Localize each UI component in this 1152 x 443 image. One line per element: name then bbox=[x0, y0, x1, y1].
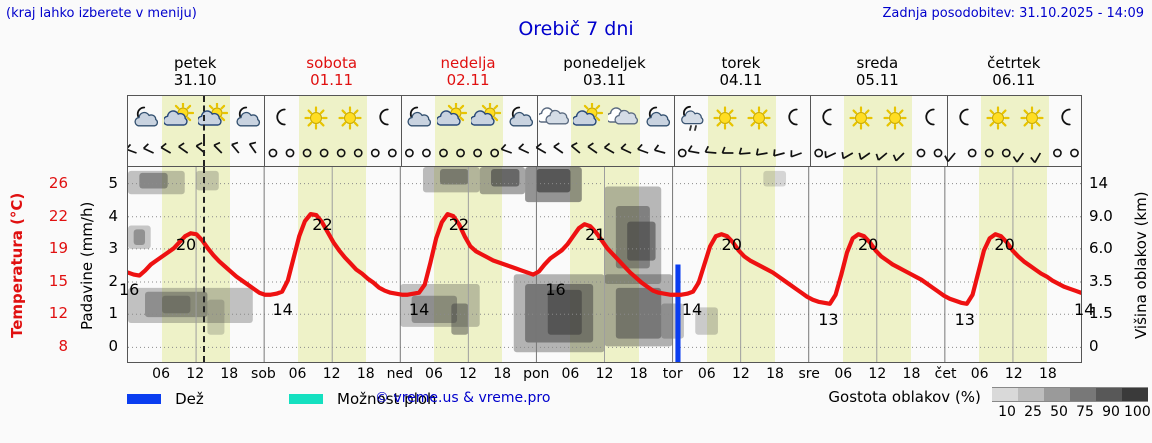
time-tick-label: čet bbox=[930, 366, 962, 382]
moon-cloud-icon bbox=[230, 103, 264, 133]
cloud-density-scale-value: 25 bbox=[1020, 404, 1046, 420]
cloud-height-tick: 0 bbox=[1089, 337, 1129, 355]
time-tick-label: 12 bbox=[179, 366, 211, 382]
cloud-density-legend: Gostota oblakov (%) bbox=[828, 386, 1148, 406]
sun-cloud-icon bbox=[162, 103, 196, 133]
time-tick-label: 18 bbox=[895, 366, 927, 382]
cloud-density-swatch bbox=[1096, 387, 1122, 402]
time-tick-label: 06 bbox=[691, 366, 723, 382]
day-header-nedelja: nedelja02.11 bbox=[400, 55, 536, 89]
cloud-icon bbox=[606, 103, 640, 133]
sun-cloud-icon bbox=[571, 103, 605, 133]
moon-cloud-drizzle-icon bbox=[674, 103, 708, 133]
moon-cloud-icon bbox=[128, 103, 162, 133]
time-tick-label: 12 bbox=[316, 366, 348, 382]
sun-icon bbox=[844, 103, 878, 133]
time-tick-label: sre bbox=[793, 366, 825, 382]
temperature-label: 16 bbox=[545, 280, 565, 299]
cloud-density-legend-title: Gostota oblakov (%) bbox=[828, 388, 981, 406]
temperature-label: 16 bbox=[119, 280, 139, 299]
sun-cloud-icon bbox=[469, 103, 503, 133]
time-tick-label: 06 bbox=[827, 366, 859, 382]
cloud-density-swatch bbox=[1122, 387, 1148, 402]
current-time-marker bbox=[203, 96, 205, 140]
cloud-density-scale-value: 10 bbox=[994, 404, 1020, 420]
temperature-label: 14 bbox=[682, 300, 702, 319]
day-date: 31.10 bbox=[127, 72, 263, 89]
temperature-label: 20 bbox=[176, 235, 196, 254]
wind-barb-strip bbox=[127, 140, 1082, 166]
temperature-label: 14 bbox=[1074, 300, 1094, 319]
time-tick-label: 12 bbox=[589, 366, 621, 382]
time-tick-label: pon bbox=[520, 366, 552, 382]
day-date: 01.11 bbox=[263, 72, 399, 89]
time-tick-label: 12 bbox=[725, 366, 757, 382]
cloud-height-tick: 6.0 bbox=[1089, 239, 1129, 257]
meteogram-plot bbox=[127, 166, 1082, 363]
time-tick-label: tor bbox=[657, 366, 689, 382]
temperature-label: 22 bbox=[312, 215, 332, 234]
temperature-tick: 12 bbox=[34, 304, 68, 322]
time-tick-label: 06 bbox=[964, 366, 996, 382]
temperature-label: 21 bbox=[585, 225, 605, 244]
precipitation-tick: 2 bbox=[100, 272, 118, 290]
day-header-ponedeljek: ponedeljek03.11 bbox=[536, 55, 672, 89]
time-tick-label: 18 bbox=[486, 366, 518, 382]
rain-legend-swatch bbox=[127, 394, 161, 404]
cloud-density-scale-value: 90 bbox=[1098, 404, 1124, 420]
temperature-label: 20 bbox=[722, 235, 742, 254]
temperature-label: 14 bbox=[272, 300, 292, 319]
moon-icon bbox=[264, 103, 298, 133]
temperature-tick: 8 bbox=[34, 337, 68, 355]
precipitation-tick: 3 bbox=[100, 239, 118, 257]
day-date: 03.11 bbox=[536, 72, 672, 89]
meteogram-canvas bbox=[128, 167, 1081, 362]
temperature-label: 14 bbox=[409, 300, 429, 319]
sun-icon bbox=[981, 103, 1015, 133]
precipitation-axis-title: Padavine (mm/h) bbox=[78, 168, 96, 363]
cloud-density-scale-value: 50 bbox=[1046, 404, 1072, 420]
sun-icon bbox=[708, 103, 742, 133]
day-name: sreda bbox=[809, 55, 945, 72]
cloud-density-swatch bbox=[1044, 387, 1070, 402]
sun-icon bbox=[1015, 103, 1049, 133]
time-tick-label: 18 bbox=[350, 366, 382, 382]
cloud-density-scale-numbers: 1025507590100 bbox=[994, 404, 1150, 420]
cloud-height-tick: 3.5 bbox=[1089, 272, 1129, 290]
time-tick-label: 06 bbox=[145, 366, 177, 382]
precipitation-tick: 4 bbox=[100, 207, 118, 225]
time-tick-label: 12 bbox=[861, 366, 893, 382]
day-name: nedelja bbox=[400, 55, 536, 72]
moon-icon bbox=[776, 103, 810, 133]
cloud-height-tick: 9.0 bbox=[1089, 207, 1129, 225]
weather-icon-strip bbox=[127, 95, 1082, 140]
day-header-petek: petek31.10 bbox=[127, 55, 263, 89]
moon-cloud-icon bbox=[640, 103, 674, 133]
precipitation-tick: 0 bbox=[100, 337, 118, 355]
day-name: petek bbox=[127, 55, 263, 72]
sun-icon bbox=[878, 103, 912, 133]
time-tick-label: 12 bbox=[998, 366, 1030, 382]
cloud-height-tick: 1.5 bbox=[1089, 304, 1129, 322]
temperature-tick: 15 bbox=[34, 272, 68, 290]
day-date: 05.11 bbox=[809, 72, 945, 89]
sun-cloud-icon bbox=[435, 103, 469, 133]
temperature-label: 20 bbox=[858, 235, 878, 254]
temperature-tick: 26 bbox=[34, 174, 68, 192]
time-tick-label: 06 bbox=[418, 366, 450, 382]
moon-cloud-icon bbox=[503, 103, 537, 133]
temperature-axis-title: Temperatura (°C) bbox=[8, 170, 26, 360]
time-tick-label: 12 bbox=[452, 366, 484, 382]
time-tick-label: sob bbox=[247, 366, 279, 382]
page-title: Orebič 7 dni bbox=[0, 18, 1152, 40]
moon-icon bbox=[1049, 103, 1083, 133]
day-date: 02.11 bbox=[400, 72, 536, 89]
temperature-tick: 22 bbox=[34, 207, 68, 225]
day-date: 04.11 bbox=[673, 72, 809, 89]
sun-icon bbox=[333, 103, 367, 133]
precipitation-tick: 5 bbox=[100, 174, 118, 192]
sun-cloud-icon bbox=[196, 103, 230, 133]
cloud-height-axis-title: Višina oblakov (km) bbox=[1132, 168, 1150, 363]
time-tick-label: ned bbox=[384, 366, 416, 382]
day-header-torek: torek04.11 bbox=[673, 55, 809, 89]
moon-icon bbox=[947, 103, 981, 133]
last-update-label: Zadnja posodobitev: 31.10.2025 - 14:09 bbox=[882, 6, 1144, 21]
temperature-label: 13 bbox=[818, 310, 838, 329]
sun-icon bbox=[299, 103, 333, 133]
cloud-density-swatch bbox=[992, 387, 1018, 402]
day-header-sreda: sreda05.11 bbox=[809, 55, 945, 89]
wind-barbs bbox=[128, 140, 1083, 166]
day-name: ponedeljek bbox=[536, 55, 672, 72]
precipitation-tick: 1 bbox=[100, 304, 118, 322]
showers-legend-swatch bbox=[289, 394, 323, 404]
day-name: četrtek bbox=[946, 55, 1082, 72]
current-time-marker bbox=[203, 140, 205, 166]
sun-icon bbox=[742, 103, 776, 133]
temperature-label: 22 bbox=[449, 215, 469, 234]
cloud-density-scale-value: 75 bbox=[1072, 404, 1098, 420]
moon-cloud-icon bbox=[401, 103, 435, 133]
cloud-density-swatch bbox=[1018, 387, 1044, 402]
day-name: sobota bbox=[263, 55, 399, 72]
time-tick-label: 06 bbox=[554, 366, 586, 382]
day-header-četrtek: četrtek06.11 bbox=[946, 55, 1082, 89]
current-time-marker bbox=[203, 167, 205, 362]
time-tick-label: 18 bbox=[759, 366, 791, 382]
cloud-density-scale-value: 100 bbox=[1124, 404, 1150, 420]
temperature-tick: 19 bbox=[34, 239, 68, 257]
day-date: 06.11 bbox=[946, 72, 1082, 89]
cloud-density-swatch bbox=[1070, 387, 1096, 402]
cloud-height-tick: 14 bbox=[1089, 174, 1129, 192]
moon-icon bbox=[810, 103, 844, 133]
moon-icon bbox=[912, 103, 946, 133]
time-tick-label: 18 bbox=[213, 366, 245, 382]
copyright-link[interactable]: © vreme.us & vreme.pro bbox=[375, 390, 550, 406]
cloud-icon bbox=[537, 103, 571, 133]
temperature-label: 20 bbox=[994, 235, 1014, 254]
rain-legend-label: Dež bbox=[175, 390, 204, 408]
temperature-label: 13 bbox=[955, 310, 975, 329]
time-tick-label: 18 bbox=[623, 366, 655, 382]
day-name: torek bbox=[673, 55, 809, 72]
time-tick-label: 06 bbox=[282, 366, 314, 382]
day-header-sobota: sobota01.11 bbox=[263, 55, 399, 89]
time-tick-label: 18 bbox=[1032, 366, 1064, 382]
moon-icon bbox=[367, 103, 401, 133]
